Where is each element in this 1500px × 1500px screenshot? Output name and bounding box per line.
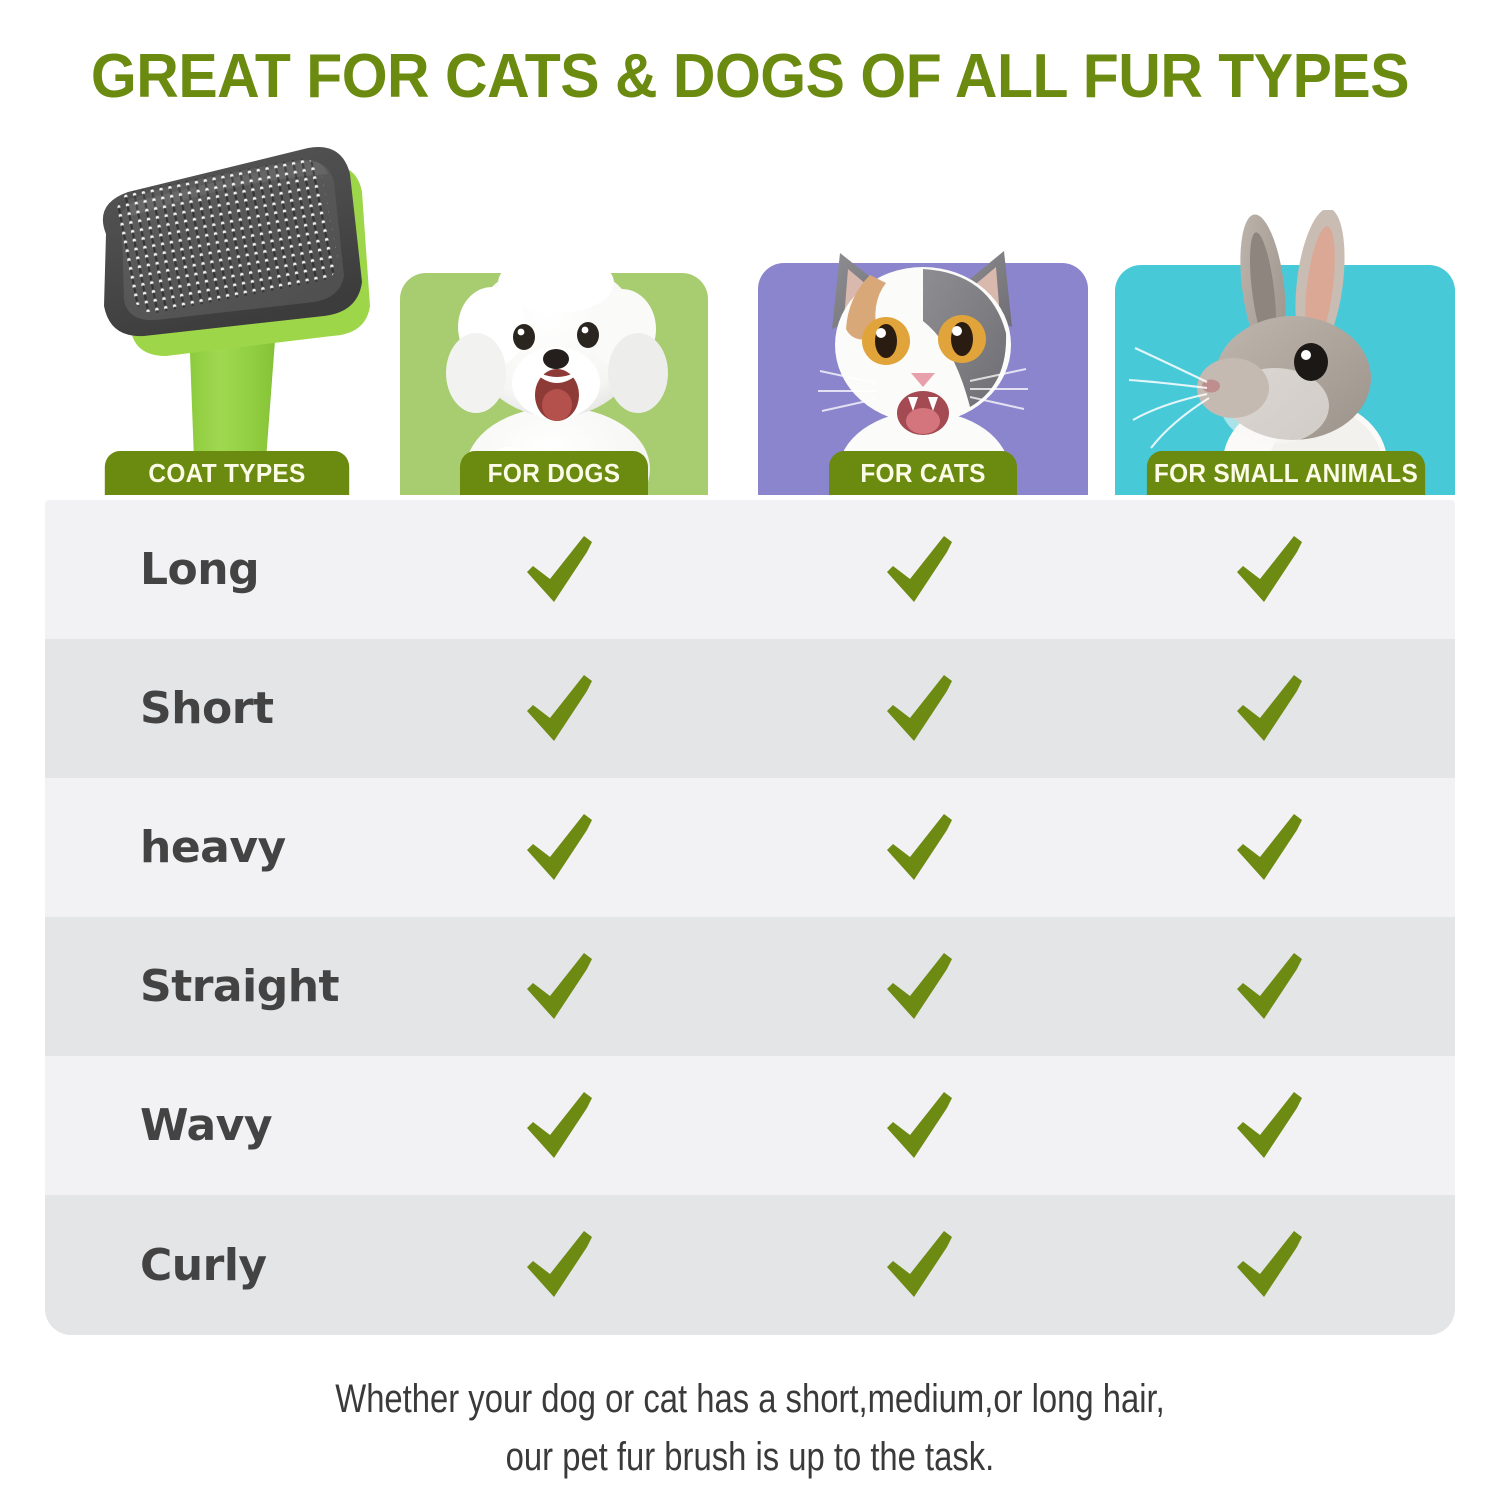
check-icon <box>520 808 600 888</box>
check-icon <box>1230 530 1310 610</box>
check-icon <box>880 808 960 888</box>
badge-dogs: FOR DOGS <box>460 451 648 495</box>
badge-small-animals-label: FOR SMALL ANIMALS <box>1154 458 1418 489</box>
check-icon <box>1230 1086 1310 1166</box>
check-icon <box>520 1225 600 1305</box>
check-icon <box>520 1086 600 1166</box>
badge-cats: FOR CATS <box>829 451 1017 495</box>
check-icon <box>1230 669 1310 749</box>
badge-coat-types: COAT TYPES <box>105 451 349 495</box>
table-row: heavy <box>45 778 1455 917</box>
badge-dogs-label: FOR DOGS <box>488 458 621 489</box>
table-row: Straight <box>45 917 1455 1056</box>
check-icon <box>880 530 960 610</box>
row-label: Wavy <box>140 1100 470 1151</box>
coat-type-compatibility-table: Long Short heavy Straight Wavy Curly <box>45 500 1455 1335</box>
check-icon <box>520 947 600 1027</box>
check-icon <box>880 947 960 1027</box>
caption-line-1: Whether your dog or cat has a short,medi… <box>135 1370 1365 1428</box>
table-row: Short <box>45 639 1455 778</box>
check-icon <box>520 669 600 749</box>
row-label: Straight <box>140 961 470 1012</box>
column-header-small-animals: FOR SMALL ANIMALS <box>1115 210 1455 495</box>
check-icon <box>880 1225 960 1305</box>
table-row: Curly <box>45 1195 1455 1334</box>
check-icon <box>880 1086 960 1166</box>
footer-caption: Whether your dog or cat has a short,medi… <box>135 1370 1365 1486</box>
table-row: Wavy <box>45 1056 1455 1195</box>
check-icon <box>520 530 600 610</box>
badge-coat-types-label: COAT TYPES <box>148 458 305 489</box>
badge-cats-label: FOR CATS <box>860 458 985 489</box>
row-label: Curly <box>140 1240 470 1291</box>
page-title: GREAT FOR CATS & DOGS OF ALL FUR TYPES <box>38 42 1463 112</box>
column-header-dogs: FOR DOGS <box>400 255 708 495</box>
row-label: Long <box>140 544 470 595</box>
column-header-cats: FOR CATS <box>758 225 1088 495</box>
row-label: heavy <box>140 822 470 873</box>
column-headers: COAT TYPES <box>0 130 1500 495</box>
row-label: Short <box>140 683 470 734</box>
check-icon <box>1230 808 1310 888</box>
check-icon <box>880 669 960 749</box>
check-icon <box>1230 947 1310 1027</box>
check-icon <box>1230 1225 1310 1305</box>
table-row: Long <box>45 500 1455 639</box>
caption-line-2: our pet fur brush is up to the task. <box>135 1428 1365 1486</box>
pet-slicker-brush-icon <box>70 130 390 470</box>
column-header-coat-types: COAT TYPES <box>70 130 390 495</box>
badge-small-animals: FOR SMALL ANIMALS <box>1147 451 1425 495</box>
